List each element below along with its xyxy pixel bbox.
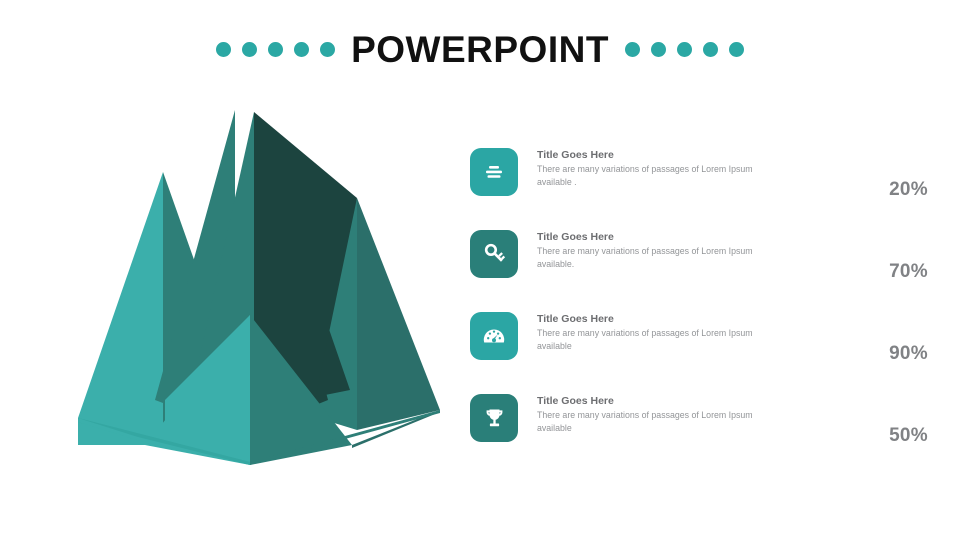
percent-value: 50% [854, 425, 928, 447]
list-item-description: There are many variations of passages of… [537, 245, 782, 271]
gauge-icon [481, 323, 507, 349]
peak-left-light-face [78, 172, 163, 445]
align-list-icon [482, 160, 506, 184]
feature-list: Title Goes Here There are many variation… [470, 140, 940, 468]
list-item[interactable]: Title Goes Here There are many variation… [470, 140, 940, 222]
icon-container-align-list[interactable] [470, 148, 518, 196]
header-dot-icon [268, 42, 283, 57]
icon-container-trophy[interactable] [470, 394, 518, 442]
header-dot-icon [677, 42, 692, 57]
icon-container-gauge[interactable] [470, 312, 518, 360]
list-item[interactable]: Title Goes Here There are many variation… [470, 304, 940, 386]
list-item-description: There are many variations of passages of… [537, 163, 782, 189]
percent-value: 90% [854, 343, 928, 365]
slide-header: POWERPOINT [0, 26, 960, 72]
list-item-title: Title Goes Here [537, 231, 782, 244]
header-dot-icon [703, 42, 718, 57]
mountain-peaks-illustration [60, 100, 460, 475]
list-item-title: Title Goes Here [537, 395, 782, 408]
header-dots-right [625, 42, 744, 57]
header-dot-icon [625, 42, 640, 57]
list-item-text: Title Goes Here There are many variation… [537, 149, 782, 189]
key-icon [482, 242, 507, 267]
list-item-title: Title Goes Here [537, 313, 782, 326]
percent-value: 20% [854, 179, 928, 201]
list-item-description: There are many variations of passages of… [537, 327, 782, 353]
peak-right-dark-face [357, 198, 440, 430]
header-dot-icon [729, 42, 744, 57]
header-dot-icon [242, 42, 257, 57]
header-dot-icon [651, 42, 666, 57]
list-item-text: Title Goes Here There are many variation… [537, 395, 782, 435]
list-item-text: Title Goes Here There are many variation… [537, 231, 782, 271]
list-item[interactable]: Title Goes Here There are many variation… [470, 222, 940, 304]
list-item-text: Title Goes Here There are many variation… [537, 313, 782, 353]
list-item-description: There are many variations of passages of… [537, 409, 782, 435]
page-title: POWERPOINT [351, 31, 609, 68]
percent-value: 70% [854, 261, 928, 283]
icon-container-key[interactable] [470, 230, 518, 278]
mountain-svg [60, 100, 460, 475]
header-dot-icon [216, 42, 231, 57]
list-item[interactable]: Title Goes Here There are many variation… [470, 386, 940, 468]
header-dot-icon [320, 42, 335, 57]
header-dot-icon [294, 42, 309, 57]
trophy-icon [482, 406, 507, 431]
list-item-title: Title Goes Here [537, 149, 782, 162]
header-dots-left [216, 42, 335, 57]
